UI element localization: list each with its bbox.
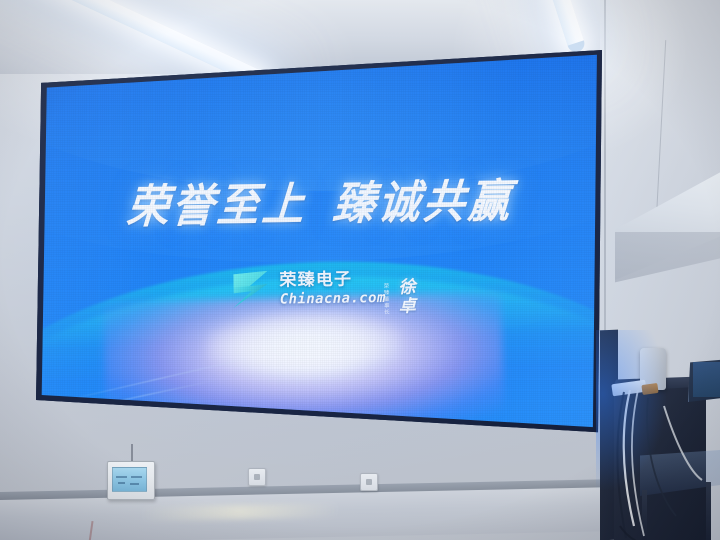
- power-outlet-1[interactable]: [248, 468, 266, 486]
- outlet-socket-icon: [254, 474, 260, 480]
- brand-website: Chinacna.com: [280, 291, 386, 307]
- panel-screen-line-3: [118, 482, 125, 484]
- control-panel-cable: [131, 444, 133, 462]
- panel-screen-line-1: [116, 476, 127, 478]
- signature-block: 荣臻董事长 徐卓: [381, 278, 418, 317]
- signature-title: 荣臻董事长: [381, 283, 390, 316]
- wall-control-panel[interactable]: [107, 461, 155, 500]
- power-outlet-2[interactable]: [360, 473, 378, 491]
- brand-text: 荣臻电子 Chinacna.com: [279, 270, 385, 307]
- rongzhen-z-logo-icon: [227, 268, 272, 311]
- headline-slogan: 荣誉至上臻诚共赢: [36, 163, 606, 238]
- brand-lockup: 荣臻电子 Chinacna.com: [227, 267, 386, 311]
- cable-bundle: [604, 376, 720, 540]
- panel-screen-line-2: [131, 476, 142, 478]
- av-equipment-cart[interactable]: [614, 358, 720, 540]
- headline-part-2: 臻诚共赢: [331, 177, 515, 230]
- signature-name: 徐卓: [392, 278, 418, 316]
- control-panel-screen[interactable]: [112, 467, 147, 492]
- brand-name-cn: 荣臻电子: [279, 270, 385, 289]
- outlet-socket-icon: [366, 479, 372, 485]
- screen-content: 荣誉至上臻诚共赢 荣臻电子 Chinacna.: [36, 50, 606, 442]
- headline-part-1: 荣誉至上: [125, 180, 309, 233]
- led-video-wall-screen[interactable]: 荣誉至上臻诚共赢 荣臻电子 Chinacna.: [36, 50, 606, 442]
- panel-screen-line-4: [130, 483, 139, 485]
- photo-scene: 荣誉至上臻诚共赢 荣臻电子 Chinacna.: [0, 0, 720, 540]
